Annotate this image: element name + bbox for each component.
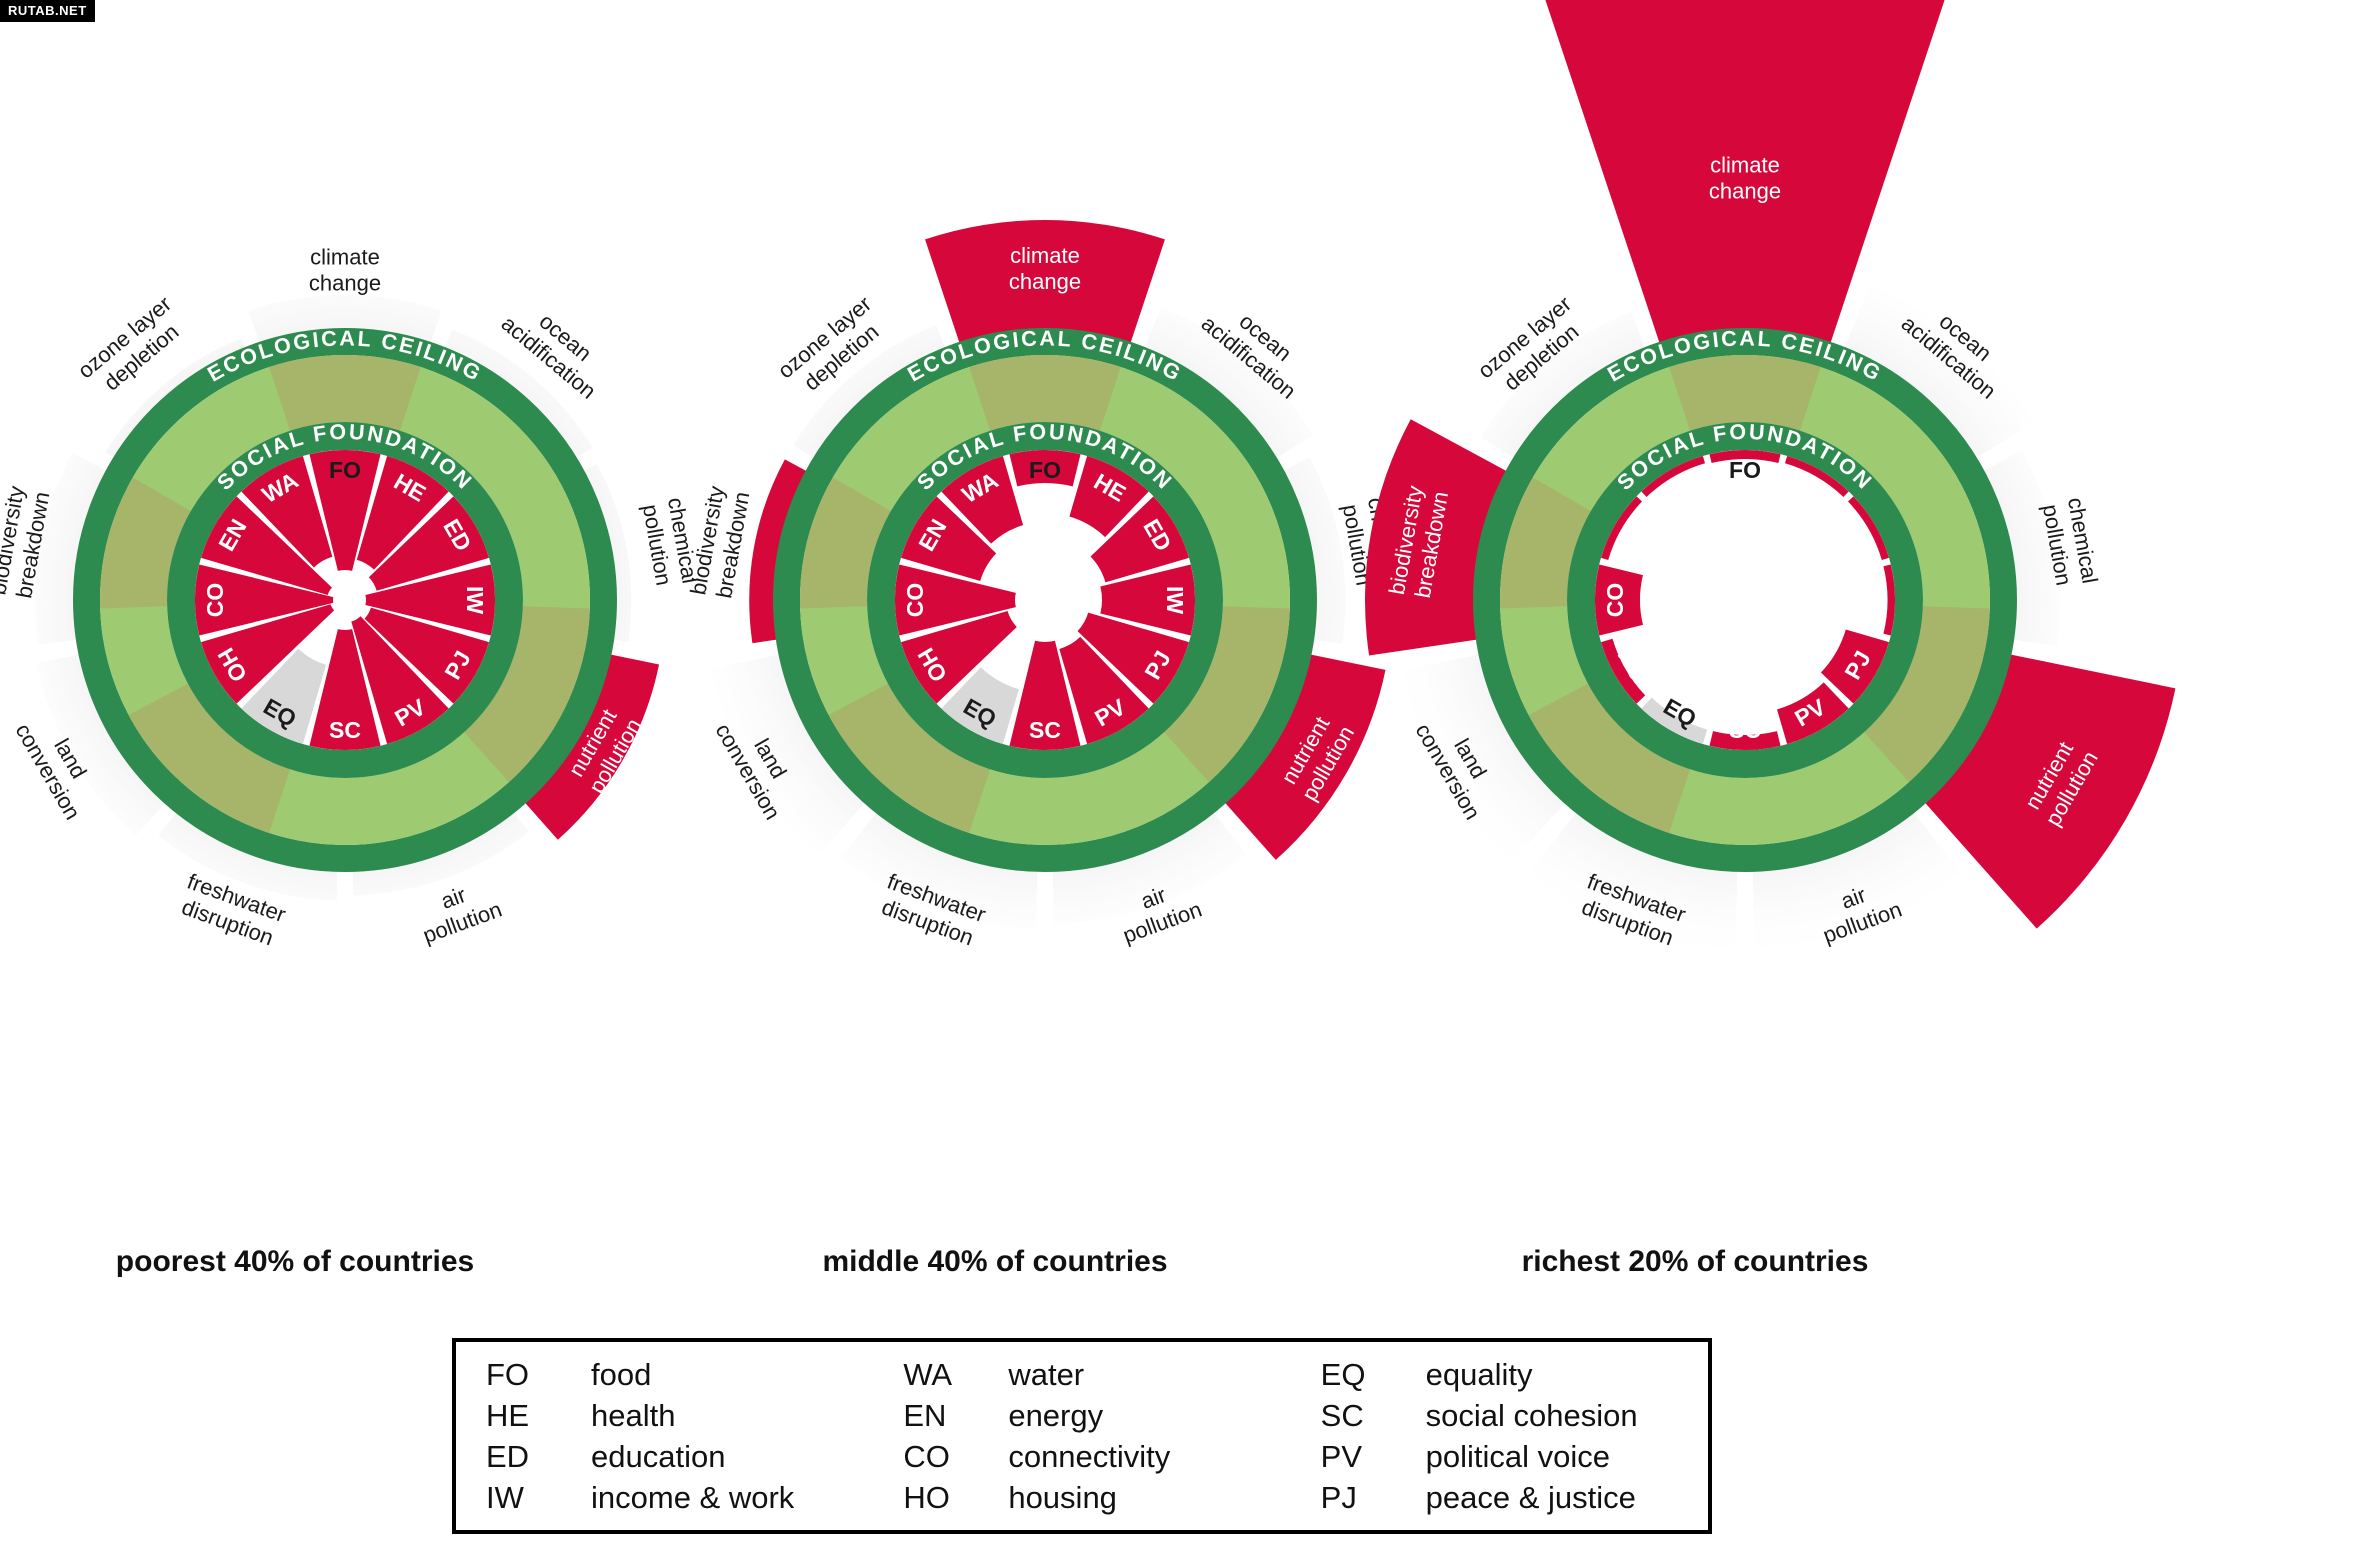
legend-column-1: FOfood HEhealth EDeducation IWincome & w… xyxy=(456,1354,873,1518)
legend-label: education xyxy=(591,1436,725,1477)
social-abbr-co: CO xyxy=(1602,583,1628,618)
watermark-badge: RUTAB.NET xyxy=(0,0,95,22)
svg-text:change: change xyxy=(309,271,381,296)
social-abbr-fo: FO xyxy=(1729,457,1761,483)
social-abbr-iw: IW xyxy=(1162,586,1188,614)
legend-item: PVpolitical voice xyxy=(1321,1436,1708,1477)
legend-box: FOfood HEhealth EDeducation IWincome & w… xyxy=(452,1338,1712,1534)
legend-label: energy xyxy=(1008,1395,1103,1436)
caption-poorest: poorest 40% of countries xyxy=(0,1245,645,1279)
legend-item: HOhousing xyxy=(903,1477,1290,1518)
legend-label: income & work xyxy=(591,1477,794,1518)
caption-richest: richest 20% of countries xyxy=(1345,1245,2045,1279)
legend-item: COconnectivity xyxy=(903,1436,1290,1477)
legend-abbr: SC xyxy=(1321,1395,1426,1436)
legend-label: social cohesion xyxy=(1426,1395,1638,1436)
svg-text:climate: climate xyxy=(1010,243,1080,268)
social-abbr-iw: IW xyxy=(462,586,488,614)
safe-space-shade xyxy=(969,355,1120,431)
legend-abbr: HE xyxy=(486,1395,591,1436)
legend-item: SCsocial cohesion xyxy=(1321,1395,1708,1436)
svg-text:change: change xyxy=(1709,179,1781,204)
caption-middle: middle 40% of countries xyxy=(645,1245,1345,1279)
legend-item: EQequality xyxy=(1321,1354,1708,1395)
legend-abbr: WA xyxy=(903,1354,1008,1395)
social-foundation-wedges xyxy=(195,450,495,750)
eco-label-climate-change: climatechange xyxy=(309,245,381,296)
social-foundation-wedges xyxy=(1595,450,1895,750)
legend-label: food xyxy=(591,1354,651,1395)
legend-label: equality xyxy=(1426,1354,1533,1395)
legend-item: IWincome & work xyxy=(486,1477,873,1518)
legend-column-3: EQequality SCsocial cohesion PVpolitical… xyxy=(1291,1354,1708,1518)
social-abbr-fo: FO xyxy=(1029,457,1061,483)
legend-abbr: CO xyxy=(903,1436,1008,1477)
legend-abbr: HO xyxy=(903,1477,1008,1518)
social-abbr-sc: SC xyxy=(1029,717,1061,743)
social-abbr-co: CO xyxy=(902,583,928,618)
social-abbr-sc: SC xyxy=(1729,717,1761,743)
legend-item: ENenergy xyxy=(903,1395,1290,1436)
legend-abbr: ED xyxy=(486,1436,591,1477)
doughnut-panel-poorest: ECOLOGICAL CEILINGSOCIAL FOUNDATIONFOHEE… xyxy=(0,0,745,1240)
legend-abbr: EN xyxy=(903,1395,1008,1436)
eco-label-climate-change: climatechange xyxy=(1009,243,1081,294)
svg-text:climate: climate xyxy=(310,245,380,270)
legend-item: HEhealth xyxy=(486,1395,873,1436)
legend-label: connectivity xyxy=(1008,1436,1170,1477)
legend-abbr: FO xyxy=(486,1354,591,1395)
safe-space-shade xyxy=(1669,355,1820,431)
eco-label-climate-change: climatechange xyxy=(1709,153,1781,204)
svg-text:change: change xyxy=(1009,269,1081,294)
doughnut-panel-middle: ECOLOGICAL CEILINGSOCIAL FOUNDATIONFOHEE… xyxy=(645,0,1445,1240)
legend-column-2: WAwater ENenergy COconnectivity HOhousin… xyxy=(873,1354,1290,1518)
social-abbr-fo: FO xyxy=(329,457,361,483)
legend-label: health xyxy=(591,1395,675,1436)
legend-item: WAwater xyxy=(903,1354,1290,1395)
legend-item: FOfood xyxy=(486,1354,873,1395)
legend-abbr: EQ xyxy=(1321,1354,1426,1395)
safe-space-shade xyxy=(269,355,420,431)
legend-label: housing xyxy=(1008,1477,1117,1518)
doughnut-panel-richest: ECOLOGICAL CEILINGSOCIAL FOUNDATIONFOHEE… xyxy=(1345,0,2145,1240)
social-abbr-sc: SC xyxy=(329,717,361,743)
social-foundation-wedges xyxy=(895,450,1195,750)
legend-label: peace & justice xyxy=(1426,1477,1636,1518)
legend-abbr: PJ xyxy=(1321,1477,1426,1518)
legend-item: PJpeace & justice xyxy=(1321,1477,1708,1518)
legend-item: EDeducation xyxy=(486,1436,873,1477)
social-abbr-iw: IW xyxy=(1862,586,1888,614)
svg-text:climate: climate xyxy=(1710,153,1780,178)
eco-label-biodiversity-breakdown: biodiversitybreakdown xyxy=(685,484,754,601)
social-abbr-co: CO xyxy=(202,583,228,618)
legend-abbr: IW xyxy=(486,1477,591,1518)
legend-label: political voice xyxy=(1426,1436,1610,1477)
legend-abbr: PV xyxy=(1321,1436,1426,1477)
legend-label: water xyxy=(1008,1354,1084,1395)
